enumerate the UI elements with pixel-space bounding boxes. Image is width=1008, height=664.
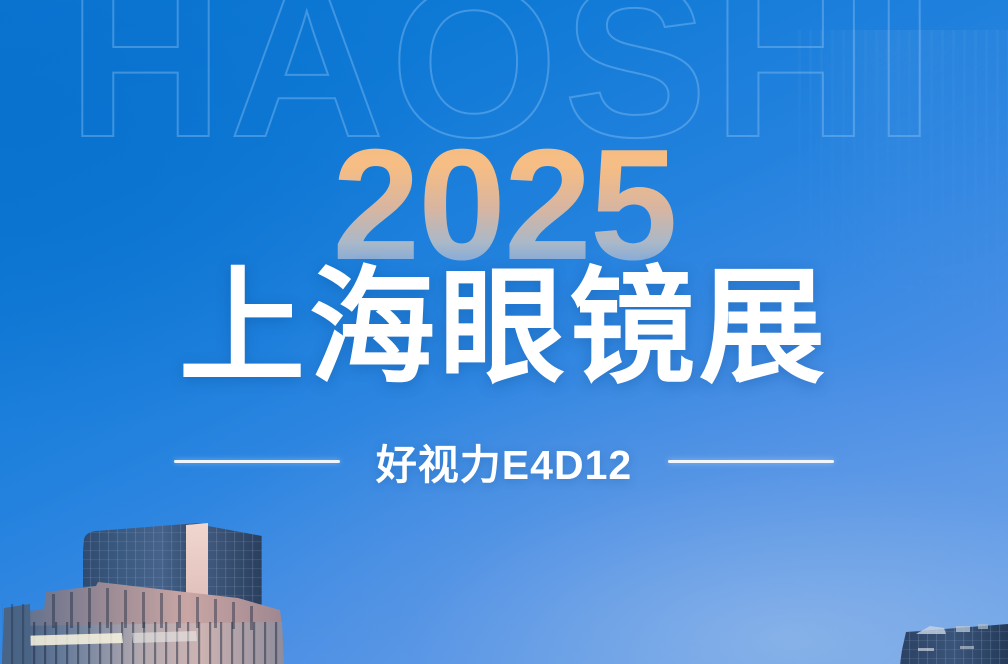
poster-canvas: HAOSHI 2025 上海眼镜展 好视力E4D12 — [0, 0, 1008, 664]
subtitle-row: 好视力E4D12 — [0, 432, 1008, 490]
divider-line-left-icon — [174, 460, 340, 463]
divider-line-right-icon — [668, 460, 834, 463]
subtitle-text: 好视力E4D12 — [376, 431, 632, 491]
page-title: 上海眼镜展 — [0, 264, 1008, 393]
